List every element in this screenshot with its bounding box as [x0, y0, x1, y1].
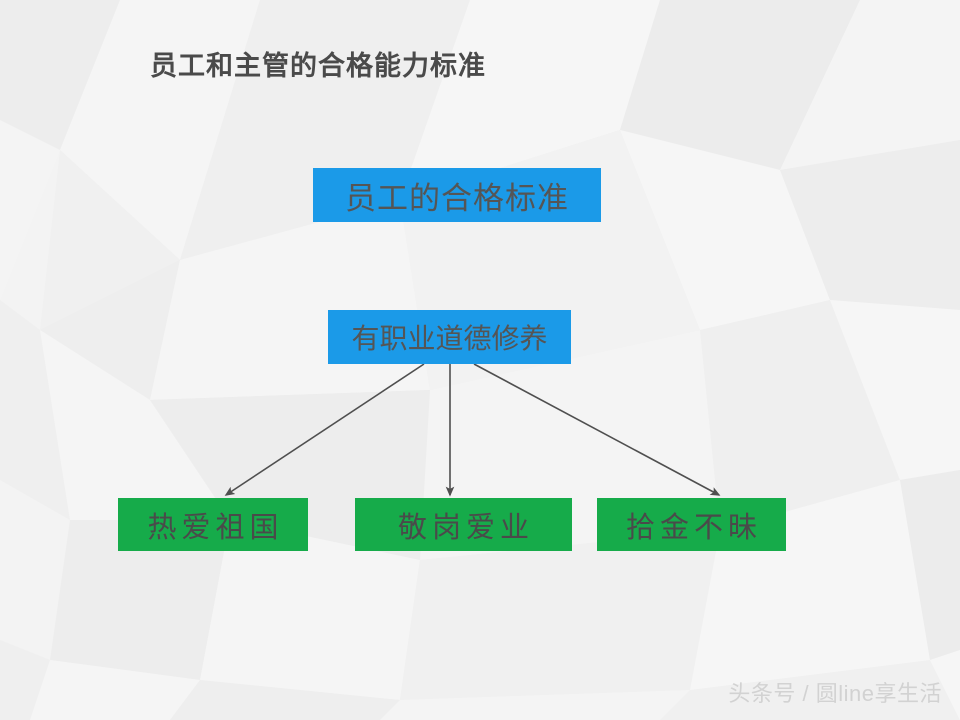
slide-canvas: 员工和主管的合格能力标准 员工的合格标准 有职业道德修养 热爱祖国 敬岗爱业 拾…: [0, 0, 960, 720]
edge-ethics-to-patriotism: [226, 364, 424, 495]
node-employee-standard[interactable]: 员工的合格标准: [313, 168, 601, 222]
watermark: 头条号 / 圆line享生活: [728, 676, 942, 708]
node-professional-ethics[interactable]: 有职业道德修养: [328, 310, 571, 364]
node-honesty[interactable]: 拾金不昧: [597, 498, 786, 551]
node-dedication[interactable]: 敬岗爱业: [355, 498, 572, 551]
edge-ethics-to-honesty: [474, 364, 719, 495]
node-patriotism[interactable]: 热爱祖国: [118, 498, 308, 551]
